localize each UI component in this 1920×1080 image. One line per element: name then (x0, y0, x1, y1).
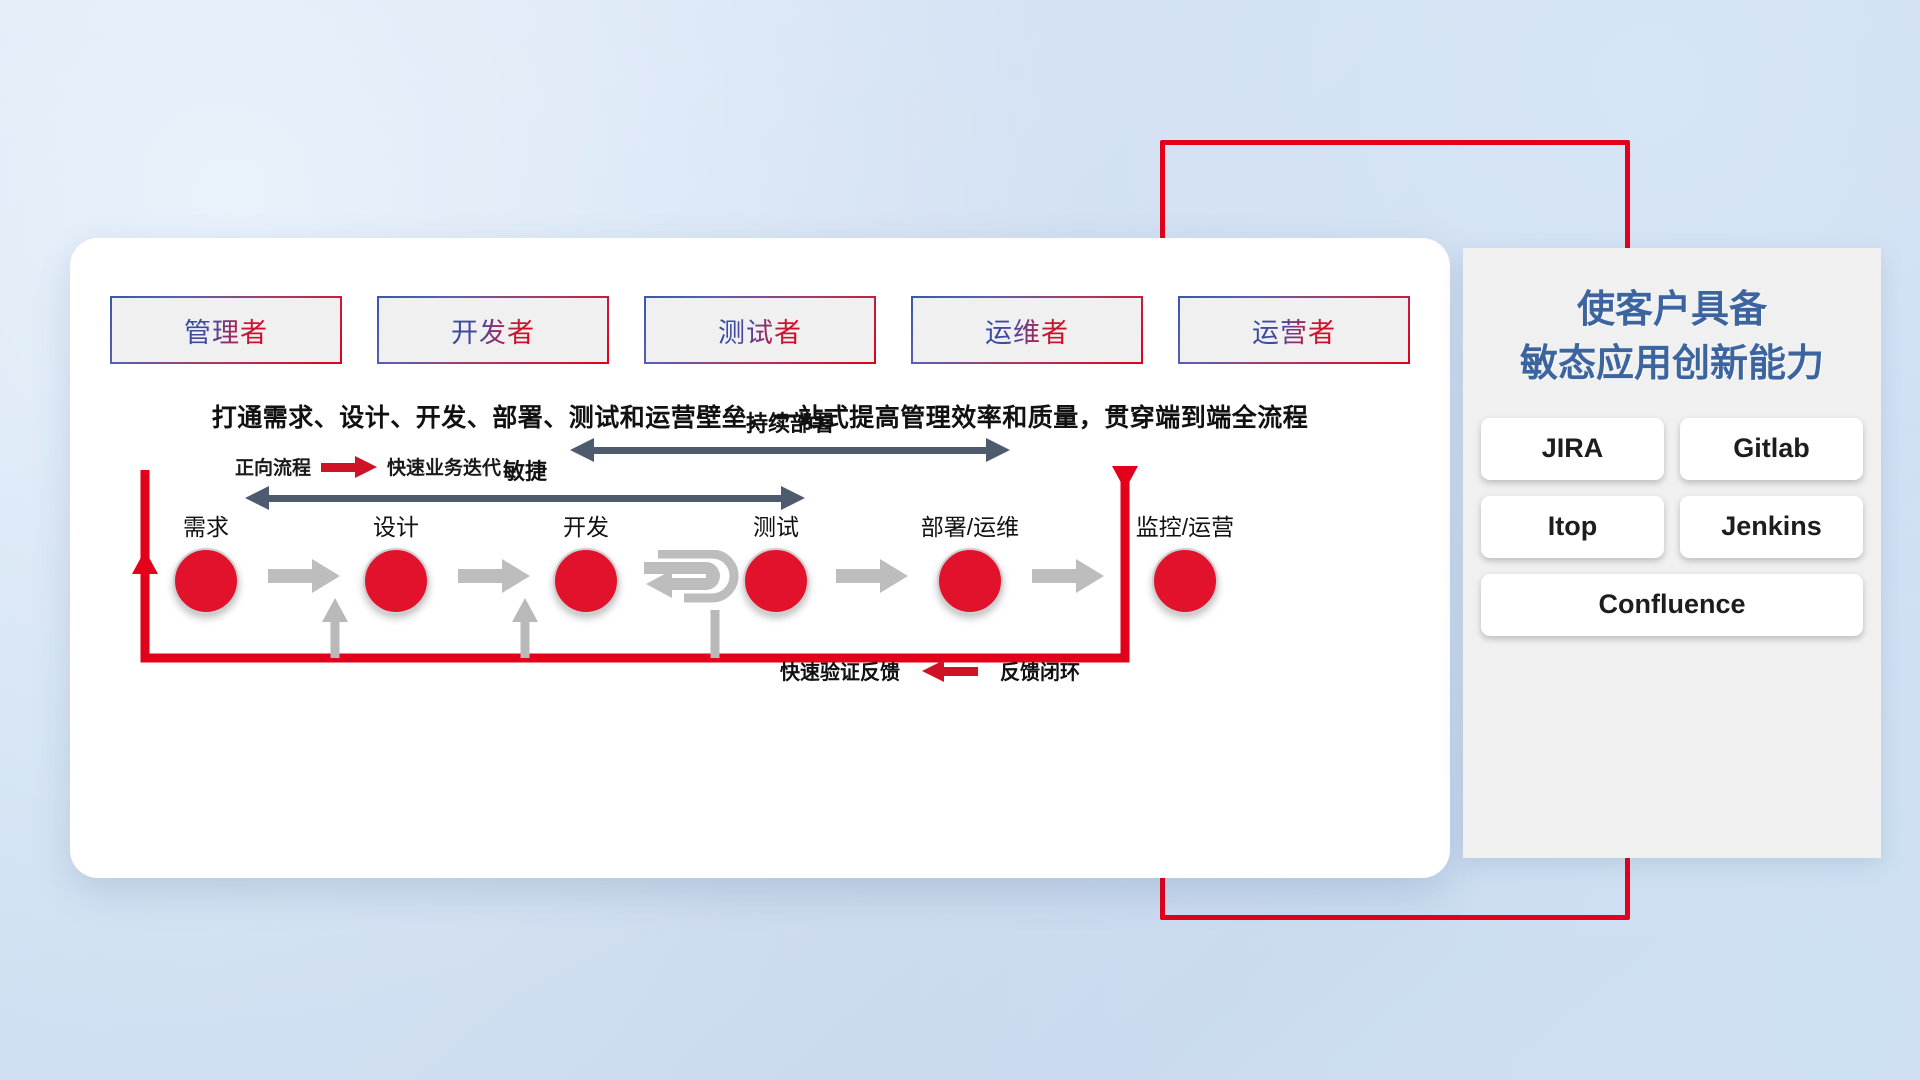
step-arrow-icon (268, 556, 342, 596)
span-label-agile: 敏捷 (245, 454, 805, 486)
tool-chip-jira[interactable]: JIRA (1481, 418, 1664, 480)
node-dot-icon (173, 548, 239, 614)
role-box-row: 管理者 开发者 测试者 运维者 运营者 (110, 296, 1410, 364)
span-arrow-agile: 敏捷 (245, 486, 805, 510)
arrow-left-red-icon (922, 660, 978, 682)
node-label: 设计 (336, 508, 456, 542)
node-label: 测试 (716, 508, 836, 542)
role-box[interactable]: 运维者 (911, 296, 1143, 364)
tool-chip-list: JIRA Gitlab Itop Jenkins Confluence (1481, 418, 1863, 636)
pipeline-node[interactable]: 监控/运营 (1070, 508, 1300, 614)
role-label: 开发者 (451, 311, 535, 350)
tool-chip-itop[interactable]: Itop (1481, 496, 1664, 558)
pipeline-node[interactable]: 测试 (716, 508, 836, 614)
role-box[interactable]: 运营者 (1178, 296, 1410, 364)
step-arrow-icon (836, 556, 910, 596)
panel-title-line1: 使客户具备 (1463, 284, 1881, 338)
pipeline-node[interactable]: 开发 (526, 508, 646, 614)
pipeline: 需求 设计 开发 测试 部署/运维 (70, 508, 1450, 668)
role-label: 运维者 (985, 311, 1069, 350)
node-label: 监控/运营 (1070, 508, 1300, 542)
pipeline-node[interactable]: 需求 (146, 508, 266, 614)
main-card: 管理者 开发者 测试者 运维者 运营者 打通需求、设计、开发、部署、测试和运营壁… (70, 238, 1450, 878)
arrow-head-right-icon (781, 486, 805, 510)
legend-feedback-right-label: 反馈闭环 (1000, 656, 1080, 685)
span-bar (592, 447, 988, 454)
panel-title: 使客户具备 敏态应用创新能力 (1463, 284, 1881, 392)
node-label: 需求 (146, 508, 266, 542)
tool-chip-jenkins[interactable]: Jenkins (1680, 496, 1863, 558)
role-label: 管理者 (184, 311, 268, 350)
node-dot-icon (363, 548, 429, 614)
role-box[interactable]: 管理者 (110, 296, 342, 364)
arrow-head-right-icon (986, 438, 1010, 462)
role-label: 运营者 (1252, 311, 1336, 350)
role-box[interactable]: 开发者 (377, 296, 609, 364)
panel-title-line2: 敏态应用创新能力 (1463, 338, 1881, 392)
role-box[interactable]: 测试者 (644, 296, 876, 364)
node-dot-icon (1152, 548, 1218, 614)
node-dot-icon (743, 548, 809, 614)
outcome-panel: 使客户具备 敏态应用创新能力 JIRA Gitlab Itop Jenkins … (1463, 248, 1881, 858)
legend-feedback-loop: 快速验证反馈 反馈闭环 (780, 656, 1080, 685)
legend-feedback-left-label: 快速验证反馈 (780, 656, 900, 685)
span-bar (267, 495, 783, 502)
role-label: 测试者 (718, 311, 802, 350)
tool-chip-gitlab[interactable]: Gitlab (1680, 418, 1863, 480)
pipeline-node[interactable]: 设计 (336, 508, 456, 614)
node-dot-icon (937, 548, 1003, 614)
node-label: 部署/运维 (910, 508, 1030, 542)
node-label: 开发 (526, 508, 646, 542)
arrow-head-left-icon (245, 486, 269, 510)
node-dot-icon (553, 548, 619, 614)
span-label-continuous-deployment: 持续部署 (570, 406, 1010, 438)
tool-chip-confluence[interactable]: Confluence (1481, 574, 1863, 636)
pipeline-node[interactable]: 部署/运维 (910, 508, 1030, 614)
step-arrow-icon (458, 556, 532, 596)
